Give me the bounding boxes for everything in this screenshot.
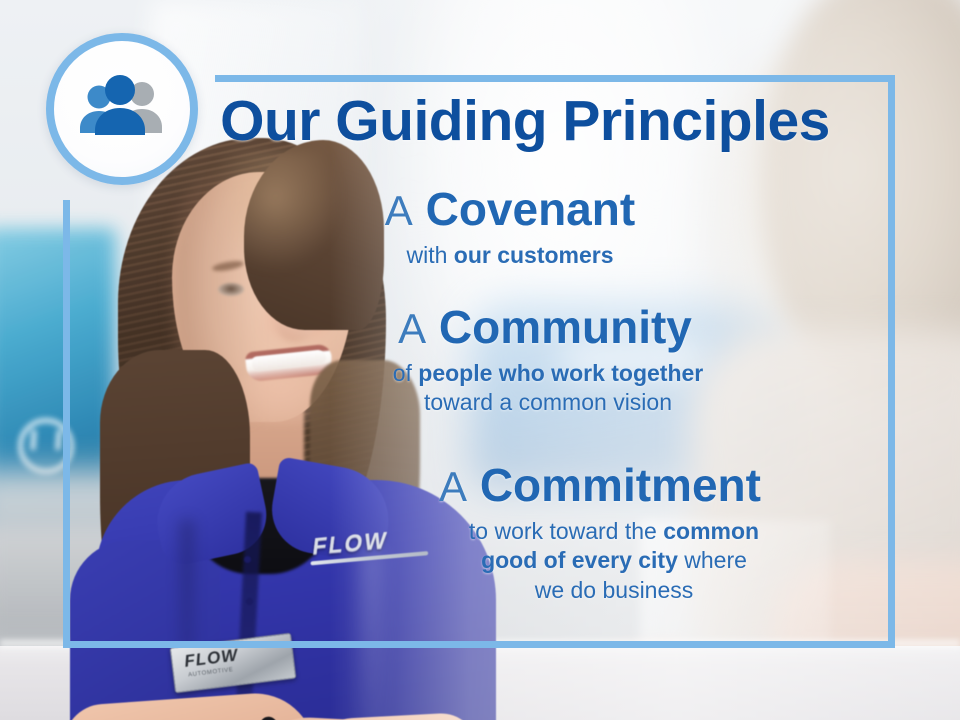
principle-subtitle-line: of people who work together bbox=[216, 359, 880, 389]
principle-subtitle: with our customers bbox=[170, 241, 880, 271]
principle-article: A bbox=[398, 305, 426, 352]
principle-subtitle: to work toward the common good of every … bbox=[170, 517, 880, 607]
group-of-people-icon bbox=[74, 73, 170, 145]
principle-title: A Community bbox=[170, 302, 880, 354]
principle-keyword: Commitment bbox=[480, 459, 761, 511]
principle-subtitle-emphasis: people who work together bbox=[418, 360, 703, 386]
principle-community: A Community of people who work together … bbox=[170, 302, 880, 418]
principle-subtitle-emphasis: common bbox=[663, 518, 759, 544]
principle-subtitle-line: toward a common vision bbox=[216, 388, 880, 418]
text-content: Our Guiding Principles A Covenant with o… bbox=[170, 80, 880, 640]
principle-article: A bbox=[439, 463, 467, 510]
principle-subtitle-line: good of every city where bbox=[348, 546, 880, 576]
principle-subtitle-emphasis: good of every city bbox=[481, 547, 678, 573]
principle-subtitle-emphasis: our customers bbox=[454, 242, 614, 268]
guiding-principles-graphic: FLOW FLOW AUTOMOTIVE bbox=[0, 0, 960, 720]
principle-covenant: A Covenant with our customers bbox=[170, 184, 880, 270]
principle-keyword: Community bbox=[439, 301, 692, 353]
principle-title: A Covenant bbox=[170, 184, 880, 236]
principle-article: A bbox=[385, 187, 413, 234]
page-title: Our Guiding Principles bbox=[170, 92, 880, 152]
principle-subtitle-line: with our customers bbox=[406, 242, 613, 268]
principle-subtitle-line: we do business bbox=[348, 576, 880, 606]
principle-commitment: A Commitment to work toward the common g… bbox=[170, 460, 880, 606]
principle-subtitle: of people who work together toward a com… bbox=[170, 359, 880, 419]
principle-keyword: Covenant bbox=[426, 183, 636, 235]
principle-subtitle-line: to work toward the common bbox=[348, 517, 880, 547]
principle-title: A Commitment bbox=[170, 460, 880, 512]
